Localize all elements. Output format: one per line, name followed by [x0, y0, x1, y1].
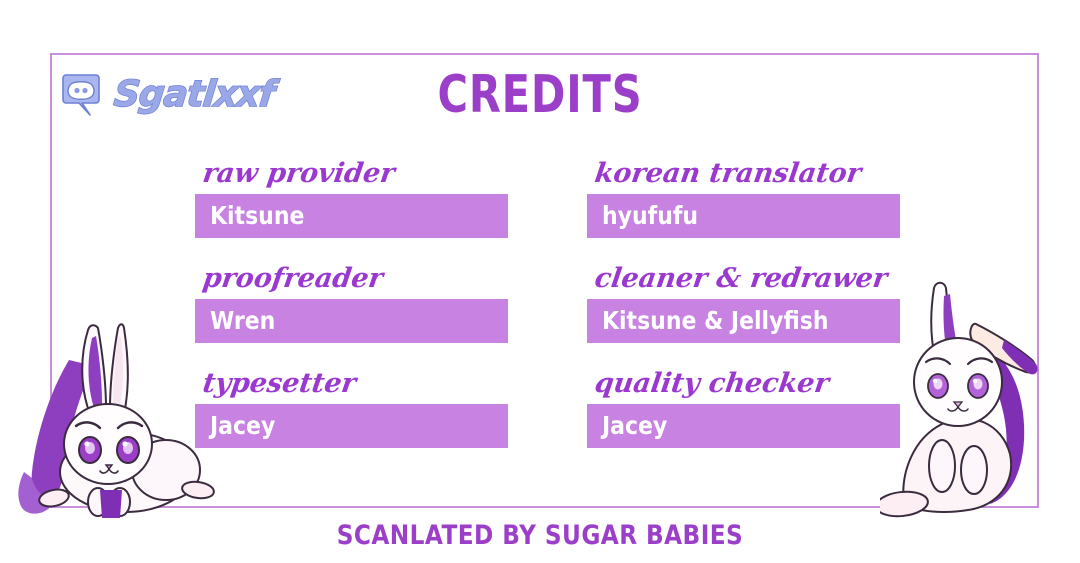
- credit-name-value: Kitsune: [195, 194, 470, 238]
- credits-columns: raw provider Kitsune proofreader Wren ty…: [195, 158, 901, 473]
- footer-credit-line: SCANLATED BY SUGAR BABIES: [76, 520, 1005, 551]
- credit-name-bar: Jacey: [587, 404, 900, 448]
- credit-row: proofreader Wren: [195, 263, 509, 368]
- credit-role-label: korean translator: [593, 160, 863, 187]
- credit-name-bar: Kitsune & Jellyfish: [587, 299, 900, 343]
- credit-name-bar: Jacey: [195, 404, 508, 448]
- discord-logo-icon: [62, 72, 106, 118]
- credits-page: Sgatlxxf CREDITS raw provider Kitsune pr…: [0, 0, 1080, 563]
- credits-column-right: korean translator hyufufu cleaner & redr…: [587, 158, 901, 473]
- credit-row: quality checker Jacey: [587, 368, 901, 473]
- credits-column-left: raw provider Kitsune proofreader Wren ty…: [195, 158, 509, 473]
- credit-role-label: typesetter: [201, 370, 358, 397]
- credit-name-value: Wren: [195, 299, 470, 343]
- credit-row: raw provider Kitsune: [195, 158, 509, 263]
- credit-row: cleaner & redrawer Kitsune & Jellyfish: [587, 263, 901, 368]
- credit-name-bar: Kitsune: [195, 194, 508, 238]
- credit-name-value: Jacey: [587, 404, 862, 448]
- credit-name-value: Jacey: [195, 404, 470, 448]
- credit-row: typesetter Jacey: [195, 368, 509, 473]
- credit-name-bar: hyufufu: [587, 194, 900, 238]
- credit-role-label: proofreader: [201, 265, 385, 292]
- credit-role-label: quality checker: [593, 370, 831, 397]
- page-title: CREDITS: [108, 68, 972, 123]
- credit-name-value: Kitsune & Jellyfish: [587, 299, 862, 343]
- credit-role-label: cleaner & redrawer: [593, 265, 889, 292]
- credit-row: korean translator hyufufu: [587, 158, 901, 263]
- credit-name-bar: Wren: [195, 299, 508, 343]
- credit-role-label: raw provider: [201, 160, 396, 187]
- credit-name-value: hyufufu: [587, 194, 862, 238]
